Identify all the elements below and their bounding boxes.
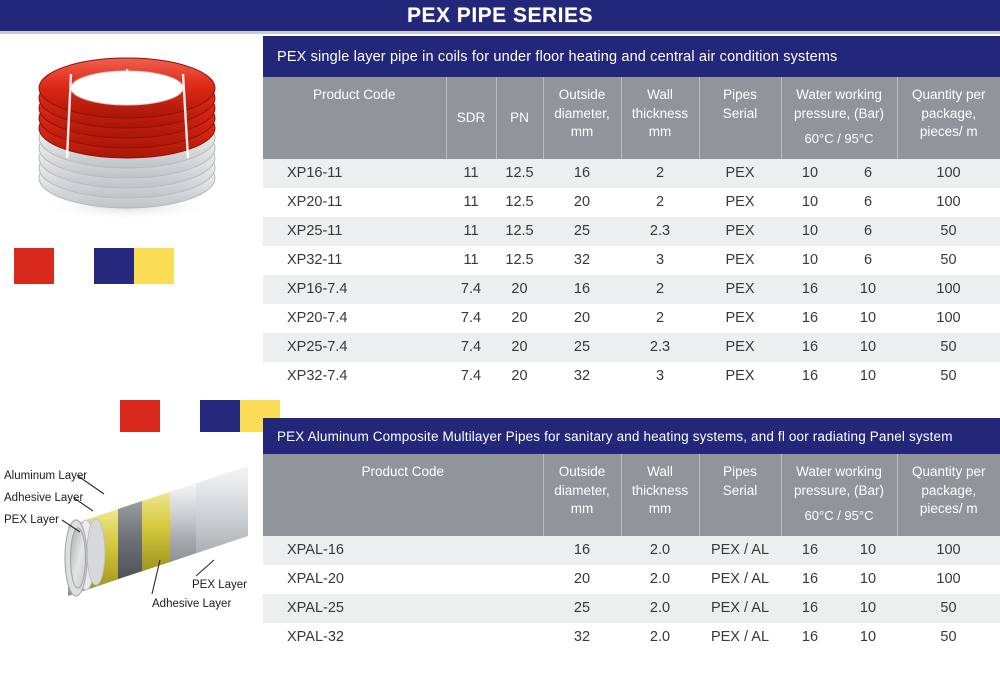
table-cell: 6 (839, 217, 897, 246)
column-sub-label: 60°C / 95°C (782, 507, 897, 525)
table-cell: 10 (839, 536, 897, 565)
table-cell: 20 (496, 333, 543, 362)
pex-pipe-series-sheet: PEX PIPE SERIES (0, 0, 1000, 689)
table-cell: 16 (781, 304, 839, 333)
col-wall-thickness: Wallthicknessmm (621, 77, 699, 159)
col-quantity-per-package: Quantity perpackage,pieces/ m (897, 454, 1000, 536)
table-cell: 50 (897, 217, 1000, 246)
table-row: XP32-111112.5323PEX10650 (263, 246, 1000, 275)
table-cell: 6 (839, 188, 897, 217)
table-2-head: Product Code Outsidediameter,mm Wallthic… (263, 454, 1000, 536)
table-cell: 20 (496, 362, 543, 391)
table-cell: 20 (543, 304, 621, 333)
table-cell: PEX (699, 333, 781, 362)
label-adhesive-layer-right: Adhesive Layer (152, 598, 231, 610)
column-sub-label: 60°C / 95°C (782, 130, 897, 148)
cell-product-code: XP16-11 (263, 159, 446, 188)
table-cell: 100 (897, 188, 1000, 217)
table-cell: 50 (897, 246, 1000, 275)
table-cell: 100 (897, 565, 1000, 594)
table-cell: 20 (543, 188, 621, 217)
table-cell: 11 (446, 217, 496, 246)
cell-product-code: XPAL-25 (263, 594, 543, 623)
table-cell: 2.0 (621, 565, 699, 594)
table-row: XP25-7.47.420252.3PEX161050 (263, 333, 1000, 362)
cell-product-code: XP25-7.4 (263, 333, 446, 362)
swatch-red (14, 248, 54, 284)
table-cell: 16 (543, 275, 621, 304)
table-cell: PEX (699, 217, 781, 246)
swatch-white (54, 248, 94, 284)
table-cell: 10 (839, 565, 897, 594)
table-cell: 100 (897, 159, 1000, 188)
table-cell: 50 (897, 623, 1000, 652)
table-cell: 16 (781, 565, 839, 594)
cell-product-code: XP16-7.4 (263, 275, 446, 304)
pex-single-layer-table-block: PEX single layer pipe in coils for under… (263, 36, 1000, 391)
table-cell: 7.4 (446, 275, 496, 304)
table-cell: PEX / AL (699, 536, 781, 565)
table-cell: 100 (897, 304, 1000, 333)
table-cell: 10 (839, 623, 897, 652)
table-cell: PEX (699, 246, 781, 275)
table-cell: 2 (621, 275, 699, 304)
label-pex-layer-left: PEX Layer (4, 514, 59, 526)
table-cell: 10 (781, 188, 839, 217)
table-cell: 16 (543, 159, 621, 188)
table-cell: 16 (781, 362, 839, 391)
cell-product-code: XP20-7.4 (263, 304, 446, 333)
cell-product-code: XP32-7.4 (263, 362, 446, 391)
col-product-code: Product Code (263, 454, 543, 536)
table-cell: 25 (543, 594, 621, 623)
label-aluminum-layer: Aluminum Layer (4, 470, 87, 482)
table-cell: 2.3 (621, 333, 699, 362)
table-cell: 32 (543, 623, 621, 652)
cell-product-code: XPAL-32 (263, 623, 543, 652)
col-sdr: SDR (446, 77, 496, 159)
table-cell: 11 (446, 246, 496, 275)
col-product-code: Product Code (263, 77, 446, 159)
col-water-working-pressure: Water workingpressure, (Bar)60°C / 95°C (781, 77, 897, 159)
table-cell: 10 (781, 217, 839, 246)
col-outside-diameter: Outsidediameter,mm (543, 77, 621, 159)
table-cell: 32 (543, 362, 621, 391)
cell-product-code: XP20-11 (263, 188, 446, 217)
table-row: XP16-111112.5162PEX106100 (263, 159, 1000, 188)
table-cell: 50 (897, 594, 1000, 623)
table-row: XP25-111112.5252.3PEX10650 (263, 217, 1000, 246)
table-cell: 2 (621, 304, 699, 333)
table-cell: 2.0 (621, 594, 699, 623)
table-cell: 16 (781, 623, 839, 652)
table-cell: 3 (621, 362, 699, 391)
table-cell: 10 (781, 246, 839, 275)
table-cell: 6 (839, 246, 897, 275)
table-cell: 7.4 (446, 333, 496, 362)
table-row: XP16-7.47.420162PEX1610100 (263, 275, 1000, 304)
col-pipes-serial: PipesSerial (699, 77, 781, 159)
col-wall-thickness: Wallthicknessmm (621, 454, 699, 536)
table-cell: 100 (897, 536, 1000, 565)
cell-product-code: XP32-11 (263, 246, 446, 275)
table-1-band-title: PEX single layer pipe in coils for under… (263, 36, 1000, 77)
pex-al-multilayer-table-block: PEX Aluminum Composite Multilayer Pipes … (263, 418, 1000, 652)
pex-single-layer-table: Product Code SDR PN Outsidediameter,mm W… (263, 77, 1000, 391)
table-row: XPAL-20202.0PEX / AL1610100 (263, 565, 1000, 594)
table-2-body: XPAL-16162.0PEX / AL1610100XPAL-20202.0P… (263, 536, 1000, 652)
page-title: PEX PIPE SERIES (407, 5, 593, 26)
table-cell: 2 (621, 188, 699, 217)
table-row: XP20-7.47.420202PEX1610100 (263, 304, 1000, 333)
table-cell: 2.0 (621, 623, 699, 652)
table-cell: 3 (621, 246, 699, 275)
table-cell: PEX (699, 159, 781, 188)
table-cell: 12.5 (496, 159, 543, 188)
table-cell: 16 (543, 536, 621, 565)
table-cell: 12.5 (496, 217, 543, 246)
color-swatches-top (14, 248, 174, 284)
cell-product-code: XPAL-20 (263, 565, 543, 594)
table-row: XPAL-32322.0PEX / AL161050 (263, 623, 1000, 652)
label-pex-layer-right: PEX Layer (192, 579, 247, 591)
table-cell: 7.4 (446, 362, 496, 391)
table-row: XP20-111112.5202PEX106100 (263, 188, 1000, 217)
col-pn: PN (496, 77, 543, 159)
title-underline (0, 31, 1000, 34)
table-cell: 12.5 (496, 188, 543, 217)
table-cell: 10 (839, 594, 897, 623)
table-cell: 16 (781, 275, 839, 304)
table-row: XPAL-16162.0PEX / AL1610100 (263, 536, 1000, 565)
label-adhesive-layer-left: Adhesive Layer (4, 492, 83, 504)
table-cell: PEX (699, 188, 781, 217)
col-outside-diameter: Outsidediameter,mm (543, 454, 621, 536)
table-cell: 16 (781, 594, 839, 623)
table-cell: 32 (543, 246, 621, 275)
table-cell: 7.4 (446, 304, 496, 333)
table-cell: 2.0 (621, 536, 699, 565)
table-cell: 50 (897, 333, 1000, 362)
table-cell: 16 (781, 536, 839, 565)
table-cell: 12.5 (496, 246, 543, 275)
table-2-band-title: PEX Aluminum Composite Multilayer Pipes … (263, 418, 1000, 454)
table-cell: 50 (897, 362, 1000, 391)
swatch-yellow (134, 248, 174, 284)
col-quantity-per-package: Quantity perpackage,pieces/ m (897, 77, 1000, 159)
col-pipes-serial: PipesSerial (699, 454, 781, 536)
table-cell: PEX (699, 362, 781, 391)
table-row: XPAL-25252.0PEX / AL161050 (263, 594, 1000, 623)
multilayer-pipe-cutaway-diagram: Aluminum Layer Adhesive Layer PEX Layer … (0, 408, 255, 630)
table-1-head: Product Code SDR PN Outsidediameter,mm W… (263, 77, 1000, 159)
table-2-header-row: Product Code Outsidediameter,mm Wallthic… (263, 454, 1000, 536)
table-cell: 10 (781, 159, 839, 188)
cell-product-code: XP25-11 (263, 217, 446, 246)
table-cell: 2 (621, 159, 699, 188)
table-cell: PEX / AL (699, 594, 781, 623)
page-title-bar: PEX PIPE SERIES (0, 0, 1000, 31)
table-cell: 25 (543, 217, 621, 246)
table-cell: 100 (897, 275, 1000, 304)
table-cell: 2.3 (621, 217, 699, 246)
table-cell: 10 (839, 275, 897, 304)
table-row: XP32-7.47.420323PEX161050 (263, 362, 1000, 391)
table-cell: PEX (699, 304, 781, 333)
table-cell: PEX / AL (699, 565, 781, 594)
table-cell: 20 (496, 275, 543, 304)
table-1-header-row: Product Code SDR PN Outsidediameter,mm W… (263, 77, 1000, 159)
table-cell: 25 (543, 333, 621, 362)
table-cell: 10 (839, 362, 897, 391)
table-cell: 11 (446, 188, 496, 217)
table-cell: 16 (781, 333, 839, 362)
swatch-navy (94, 248, 134, 284)
table-cell: 10 (839, 304, 897, 333)
table-1-body: XP16-111112.5162PEX106100XP20-111112.520… (263, 159, 1000, 391)
col-water-working-pressure: Water workingpressure, (Bar)60°C / 95°C (781, 454, 897, 536)
pex-pipe-coil-photo (8, 38, 246, 228)
table-cell: 10 (839, 333, 897, 362)
table-cell: 20 (496, 304, 543, 333)
table-cell: PEX / AL (699, 623, 781, 652)
pex-al-multilayer-table: Product Code Outsidediameter,mm Wallthic… (263, 454, 1000, 652)
table-cell: 20 (543, 565, 621, 594)
coil-illustration (8, 38, 246, 228)
table-cell: 11 (446, 159, 496, 188)
cell-product-code: XPAL-16 (263, 536, 543, 565)
table-cell: PEX (699, 275, 781, 304)
table-cell: 6 (839, 159, 897, 188)
